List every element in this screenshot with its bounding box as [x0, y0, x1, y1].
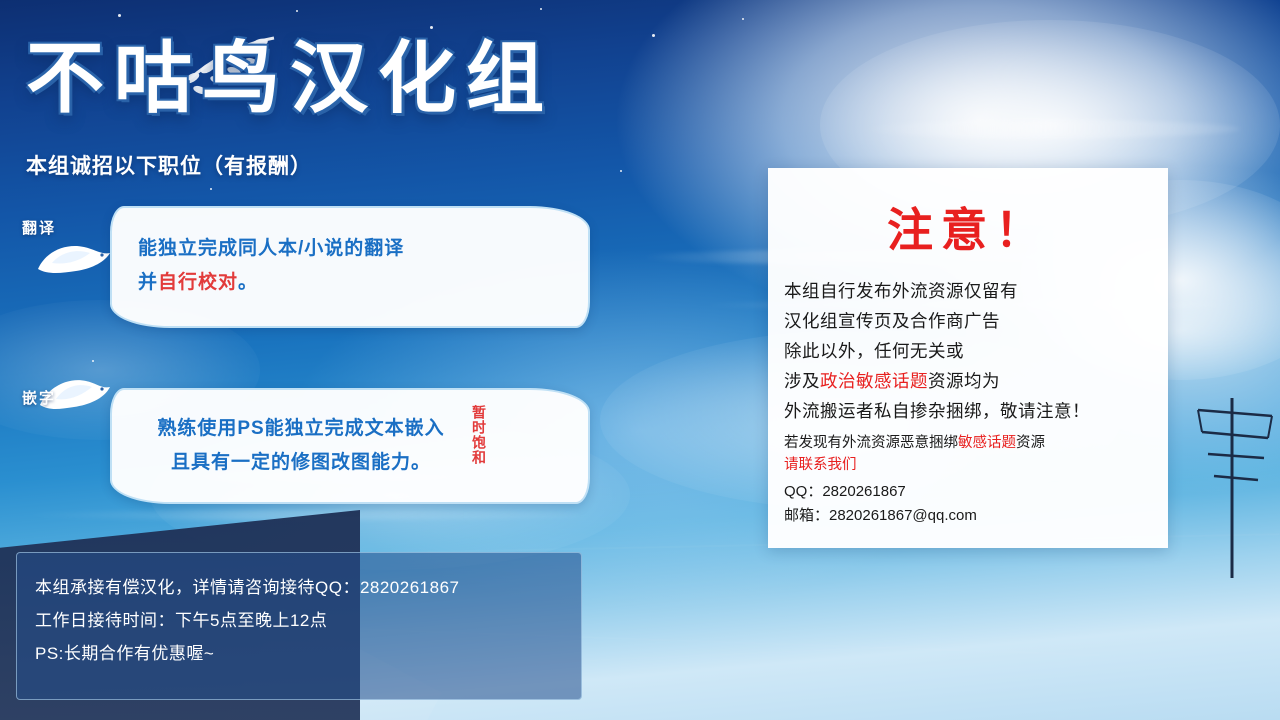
- page-title: 不咕鸟汉化组: [26, 16, 554, 128]
- footer-line: 工作日接待时间：下午5点至晚上12点: [35, 604, 581, 637]
- notice-panel: 注意！ 本组自行发布外流资源仅留有 汉化组宣传页及合作商广告 除此以外，任何无关…: [768, 168, 1168, 548]
- role-tag-label: 翻译: [22, 217, 56, 238]
- cloud-streak: [20, 510, 580, 520]
- notice-email[interactable]: 邮箱：2820261867@qq.com: [784, 504, 1168, 528]
- footer-line: PS:长期合作有优惠喔~: [35, 637, 581, 670]
- recruit-subtitle: 本组诚招以下职位（有报酬）: [26, 150, 312, 180]
- role-bubble-typeset-text: 熟练使用PS能独立完成文本嵌入 且具有一定的修图改图能力。: [136, 412, 466, 480]
- role-highlight: 修图改图: [291, 452, 371, 473]
- role-line: 熟练使用PS能独立完成文本嵌入: [157, 418, 444, 439]
- notice-body-line: 本组自行发布外流资源仅留有: [784, 276, 1168, 306]
- notice-body-line-highlighted: 涉及政治敏感话题资源均为: [784, 366, 1168, 396]
- star-decoration: [620, 170, 622, 172]
- role-tag-label: 嵌字: [22, 387, 56, 408]
- cloud-streak: [860, 120, 1240, 138]
- role-translate: 翻译: [18, 205, 114, 283]
- notice-body-highlight: 政治敏感话题: [820, 371, 928, 391]
- notice-contact: QQ：2820261867 邮箱：2820261867@qq.com: [784, 480, 1168, 528]
- notice-body: 本组自行发布外流资源仅留有 汉化组宣传页及合作商广告 除此以外，任何无关或 涉及…: [784, 276, 1168, 426]
- notice-body-line: 除此以外，任何无关或: [784, 336, 1168, 366]
- star-decoration: [742, 18, 744, 20]
- notice-sub-highlight: 敏感话题: [958, 435, 1016, 451]
- role-bubble-translate-text: 能独立完成同人本/小说的翻译 并自行校对。: [138, 232, 568, 300]
- role-typeset: 嵌字: [18, 375, 114, 453]
- footer-line: 本组承接有偿汉化，详情请咨询接待QQ：2820261867: [35, 571, 581, 604]
- role-highlight: 自行校对: [158, 272, 238, 293]
- antenna-icon: [1180, 398, 1280, 578]
- notice-body-line: 汉化组宣传页及合作商广告: [784, 306, 1168, 336]
- notice-body-line: 外流搬运者私自掺杂捆绑，敬请注意！: [784, 396, 1168, 426]
- role-line: 能独立完成同人本/小说的翻译: [138, 238, 404, 259]
- notice-title: 注意！: [768, 194, 1168, 260]
- star-decoration: [296, 10, 298, 12]
- notice-sub-line: 若发现有外流资源恶意捆绑敏感话题资源: [784, 432, 1168, 454]
- promo-page: 不咕鸟汉化组 本组诚招以下职位（有报酬） 翻译 能独立完成同人本/小说的翻译 并…: [0, 0, 1280, 720]
- footer-panel: 本组承接有偿汉化，详情请咨询接待QQ：2820261867 工作日接待时间：下午…: [16, 552, 582, 700]
- star-decoration: [540, 8, 542, 10]
- star-decoration: [652, 34, 655, 37]
- notice-contact-us: 请联系我们: [784, 454, 1168, 476]
- role-status-saturated: 暂时饱和: [470, 405, 487, 465]
- notice-sub: 若发现有外流资源恶意捆绑敏感话题资源 请联系我们: [784, 432, 1168, 476]
- star-decoration: [210, 188, 212, 190]
- notice-qq[interactable]: QQ：2820261867: [784, 480, 1168, 504]
